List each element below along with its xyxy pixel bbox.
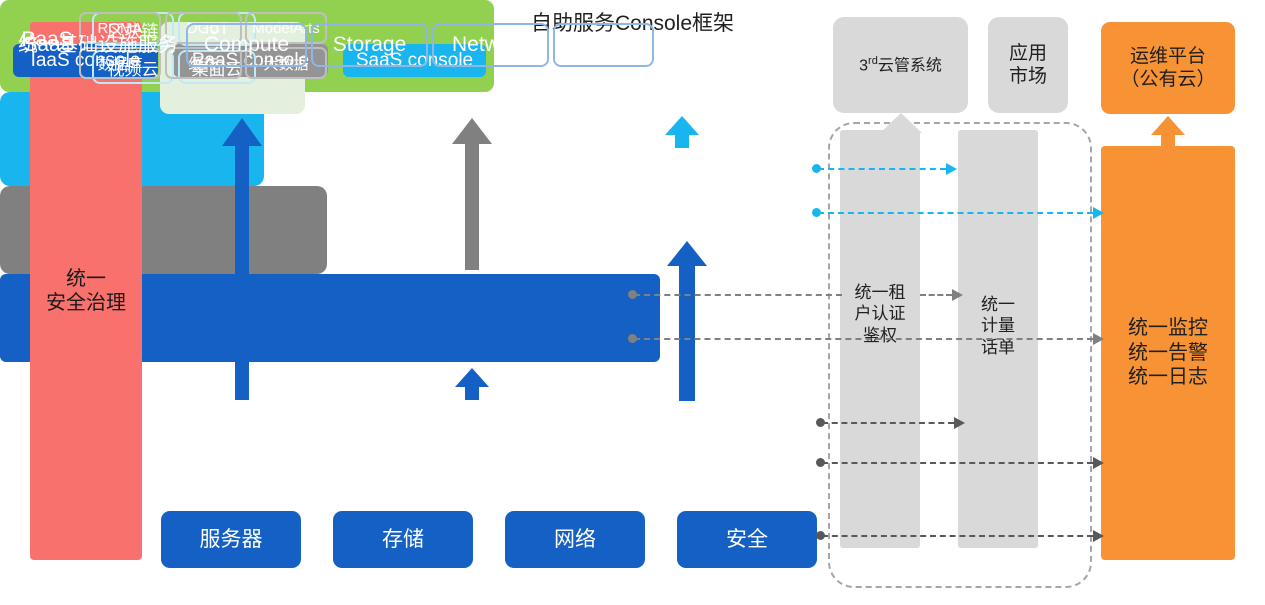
connector-paas-to-ops: [634, 338, 1093, 340]
arrow-infra-to-paas: [455, 368, 489, 400]
arrow-infra-to-saas: [667, 241, 707, 401]
connector-saas-to-auth: [818, 168, 946, 170]
unified-security-governance-panel: 统一安全治理: [30, 22, 142, 560]
connector-saas-to-ops: [818, 212, 1093, 214]
resource-box-network[interactable]: 网络: [505, 511, 645, 568]
unified-billing-label: 统一计量话单: [958, 294, 1038, 358]
infra-chip-storage-label: Storage: [333, 33, 407, 57]
connector-infra-to-billing: [822, 422, 954, 424]
resource-box-server[interactable]: 服务器: [161, 511, 301, 568]
connector-arrowhead-auth-to-billing: [952, 289, 963, 301]
app-market-box: 应用市场: [988, 17, 1068, 113]
third-party-cloud-management-box: 3rd云管系统: [833, 17, 968, 113]
resource-box-network-label: 网络: [554, 527, 596, 553]
unified-security-governance-label: 统一安全治理: [46, 267, 126, 316]
connector-arrowhead-saas-to-auth: [946, 163, 957, 175]
connector-arrowhead-resources-to-ops: [1093, 530, 1104, 542]
architecture-diagram: 统一安全治理 API网关 自助服务Console框架 IaaS console …: [0, 0, 1265, 605]
connector-infra-to-ops: [822, 462, 1093, 464]
connector-arrowhead-infra-to-ops: [1093, 457, 1104, 469]
ops-platform-services-label: 统一监控统一告警统一日志: [1128, 316, 1208, 389]
third-party-main-label: 云管系统: [878, 57, 942, 74]
infra-chip-cce[interactable]: CCE: [553, 23, 654, 67]
resource-box-security[interactable]: 安全: [677, 511, 817, 568]
arrow-paas-to-console: [452, 118, 492, 270]
infra-chip-compute[interactable]: Compute: [186, 23, 307, 67]
third-party-ordinal-sup: rd: [868, 55, 878, 67]
resource-box-server-label: 服务器: [200, 527, 263, 553]
connector-paas-to-auth: [634, 294, 842, 296]
infra-chip-compute-label: Compute: [204, 33, 289, 57]
infra-chip-storage[interactable]: Storage: [311, 23, 428, 67]
resource-box-security-label: 安全: [726, 527, 768, 553]
infra-chip-cce-label: CCE: [581, 33, 625, 57]
third-party-cloud-management-label: 3rd云管系统: [859, 55, 942, 76]
infra-chip-network-label: Network: [452, 33, 529, 57]
resource-box-storage-label: 存储: [382, 527, 424, 553]
connector-resources-to-ops: [822, 535, 1093, 537]
arrow-ops-body-to-ops-top: [1151, 116, 1185, 148]
third-party-prefix: 3: [859, 57, 868, 74]
connector-arrowhead-saas-to-ops: [1093, 207, 1104, 219]
connector-arrowhead-infra-to-billing: [954, 417, 965, 429]
app-market-label: 应用市场: [1009, 42, 1047, 88]
arrow-saas-to-console: [665, 116, 699, 148]
connector-arrowhead-paas-to-ops: [1093, 333, 1104, 345]
ops-platform-label: 运维平台（公有云）: [1120, 45, 1215, 91]
ops-platform-box: 运维平台（公有云）: [1101, 22, 1235, 114]
connector-auth-to-billing: [920, 294, 952, 296]
arrow-middleware-to-third-cloud: [880, 113, 922, 148]
ops-platform-services-panel: 统一监控统一告警统一日志: [1101, 146, 1235, 560]
infra-chip-network[interactable]: Network: [432, 23, 549, 67]
unified-tenant-auth-label: 统一租户认证鉴权: [840, 282, 920, 346]
resource-box-storage[interactable]: 存储: [333, 511, 473, 568]
unified-infrastructure-label: 统一基础设施服务: [8, 28, 188, 57]
arrow-infra-to-api-gateway: [222, 118, 262, 400]
